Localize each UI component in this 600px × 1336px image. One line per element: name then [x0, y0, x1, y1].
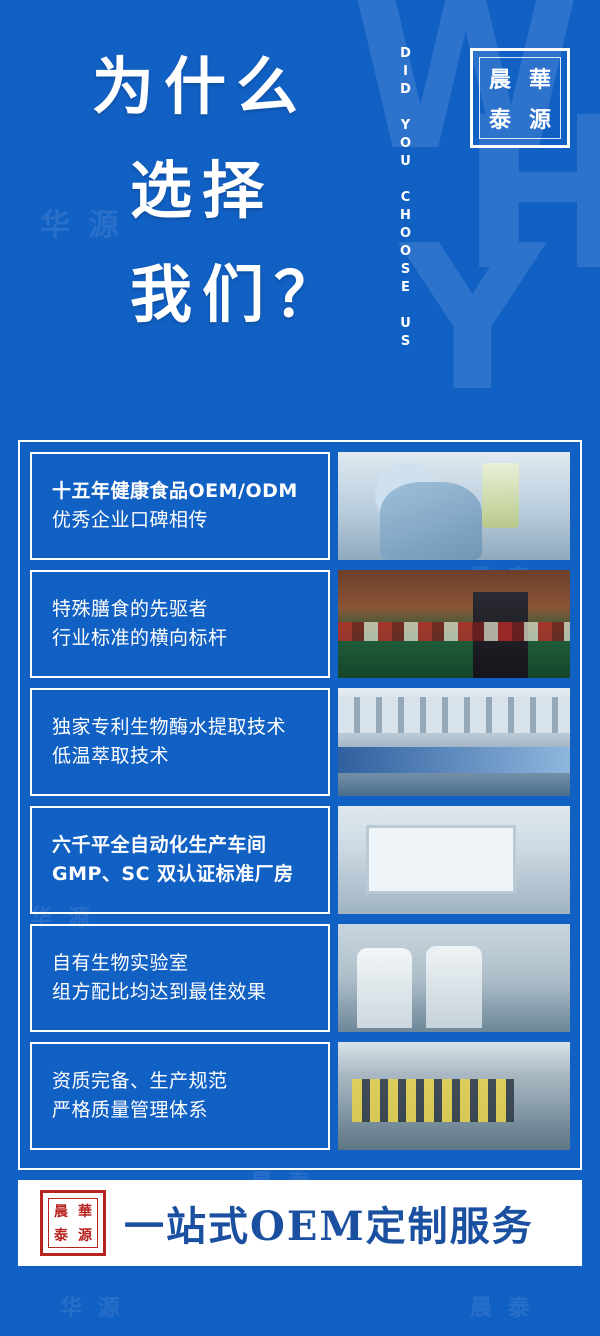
bg-watermark: 晨 泰 [470, 1290, 534, 1322]
feature-line-2: 行业标准的横向标杆 [52, 624, 328, 653]
footer-seal-char-2: 華 [73, 1199, 97, 1223]
feature-line-1: 六千平全自动化生产车间 [52, 831, 328, 860]
feature-line-2: 组方配比均达到最佳效果 [52, 978, 328, 1007]
feature-line-2: GMP、SC 双认证标准厂房 [52, 860, 328, 889]
feature-text: 独家专利生物酶水提取技术 低温萃取技术 [30, 688, 330, 796]
feature-photo [338, 924, 570, 1032]
brand-seal-logo: 晨 華 泰 源 [470, 48, 570, 148]
hero-section: W H Y 为什么 选择 我们？ DID YOU CHOOSE US 晨 華 泰… [0, 0, 600, 432]
feature-text: 六千平全自动化生产车间 GMP、SC 双认证标准厂房 [30, 806, 330, 914]
list-item: 十五年健康食品OEM/ODM 优秀企业口碑相传 [30, 452, 570, 560]
title-line-3: 我们？ [130, 264, 392, 326]
list-item: 资质完备、生产规范 严格质量管理体系 [30, 1042, 570, 1150]
feature-line-1: 独家专利生物酶水提取技术 [52, 713, 328, 742]
feature-text: 十五年健康食品OEM/ODM 优秀企业口碑相传 [30, 452, 330, 560]
feature-line-1: 特殊膳食的先驱者 [52, 595, 328, 624]
footer-seal-char-3: 泰 [49, 1223, 73, 1247]
list-item: 特殊膳食的先驱者 行业标准的横向标杆 [30, 570, 570, 678]
list-item: 六千平全自动化生产车间 GMP、SC 双认证标准厂房 [30, 806, 570, 914]
brand-seal-inner: 晨 華 泰 源 [479, 57, 561, 139]
footer-seal-char-1: 晨 [49, 1199, 73, 1223]
list-item: 独家专利生物酶水提取技术 低温萃取技术 [30, 688, 570, 796]
watermark-letter-y: Y [400, 220, 545, 420]
title-line-1: 为什么 [92, 56, 392, 118]
feature-line-1: 十五年健康食品OEM/ODM [52, 477, 328, 506]
bg-watermark: 华 源 [60, 1290, 124, 1322]
footer-slogan: 一站式OEM定制服务 [124, 1194, 534, 1252]
seal-char-2: 華 [520, 58, 560, 98]
feature-photo [338, 806, 570, 914]
footer-banner: 晨 華 泰 源 一站式OEM定制服务 [18, 1180, 582, 1266]
feature-photo [338, 1042, 570, 1150]
feature-photo [338, 570, 570, 678]
seal-char-3: 泰 [480, 98, 520, 138]
feature-text: 资质完备、生产规范 严格质量管理体系 [30, 1042, 330, 1150]
feature-text: 自有生物实验室 组方配比均达到最佳效果 [30, 924, 330, 1032]
feature-line-2: 低温萃取技术 [52, 742, 328, 771]
feature-line-2: 优秀企业口碑相传 [52, 506, 328, 535]
footer-seal-inner: 晨 華 泰 源 [48, 1198, 98, 1248]
feature-list: 十五年健康食品OEM/ODM 优秀企业口碑相传 特殊膳食的先驱者 行业标准的横向… [30, 452, 570, 1150]
feature-line-2: 严格质量管理体系 [52, 1096, 328, 1125]
footer-seal-char-4: 源 [73, 1223, 97, 1247]
seal-char-4: 源 [520, 98, 560, 138]
footer-seal-logo: 晨 華 泰 源 [40, 1190, 106, 1256]
feature-line-1: 资质完备、生产规范 [52, 1067, 328, 1096]
feature-photo [338, 452, 570, 560]
feature-photo [338, 688, 570, 796]
page-title: 为什么 选择 我们？ [92, 56, 392, 326]
list-item: 自有生物实验室 组方配比均达到最佳效果 [30, 924, 570, 1032]
feature-text: 特殊膳食的先驱者 行业标准的横向标杆 [30, 570, 330, 678]
feature-line-1: 自有生物实验室 [52, 949, 328, 978]
vertical-english-caption: DID YOU CHOOSE US [398, 46, 413, 396]
features-card: 十五年健康食品OEM/ODM 优秀企业口碑相传 特殊膳食的先驱者 行业标准的横向… [18, 440, 582, 1170]
poster-root: 华 源 晨 泰 华 源 晨 泰 华 源 晨 泰 W H Y 为什么 选择 我们？… [0, 0, 600, 1336]
title-line-2: 选择 [130, 160, 392, 222]
seal-char-1: 晨 [480, 58, 520, 98]
